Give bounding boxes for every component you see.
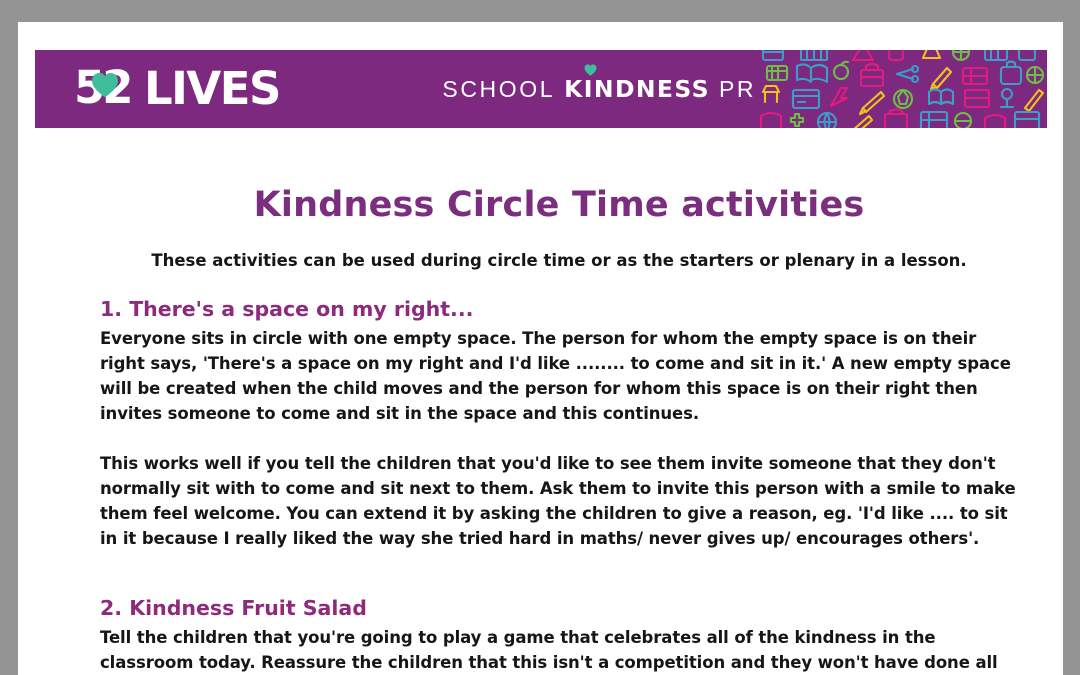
heart-icon bbox=[91, 72, 119, 98]
school-supplies-pattern bbox=[757, 50, 1047, 128]
heart-icon bbox=[584, 64, 597, 76]
section-paragraph: Tell the children that you're going to p… bbox=[100, 625, 1018, 675]
brand-logo[interactable]: 52 LIVES bbox=[35, 66, 280, 112]
tagline-kindness-text: KINDNESS bbox=[564, 75, 710, 103]
tagline-kindness: KINDNESS bbox=[564, 75, 710, 103]
section-heading: 1. There's a space on my right... bbox=[100, 296, 1018, 322]
doodle-pattern-svg bbox=[757, 50, 1047, 128]
document-viewport: 52 LIVES SCHOOL KINDNESS bbox=[0, 0, 1080, 675]
document-content: Kindness Circle Time activities These ac… bbox=[100, 182, 1018, 675]
logo-52lives: 52 LIVES bbox=[74, 66, 280, 112]
section-paragraph: Everyone sits in circle with one empty s… bbox=[100, 326, 1018, 426]
section-1: 1. There's a space on my right... Everyo… bbox=[100, 296, 1018, 551]
section-paragraph: This works well if you tell the children… bbox=[100, 451, 1018, 551]
logo-digits-block: 52 bbox=[74, 66, 144, 112]
document-page: 52 LIVES SCHOOL KINDNESS bbox=[18, 22, 1063, 675]
page-subtitle: These activities can be used during circ… bbox=[100, 250, 1018, 272]
section-heading: 2. Kindness Fruit Salad bbox=[100, 595, 1018, 621]
page-title: Kindness Circle Time activities bbox=[100, 182, 1018, 228]
header-banner: 52 LIVES SCHOOL KINDNESS bbox=[35, 50, 1047, 128]
tagline-school: SCHOOL bbox=[442, 76, 555, 103]
logo-wordmark: LIVES bbox=[144, 66, 280, 112]
section-2: 2. Kindness Fruit Salad Tell the childre… bbox=[100, 595, 1018, 675]
